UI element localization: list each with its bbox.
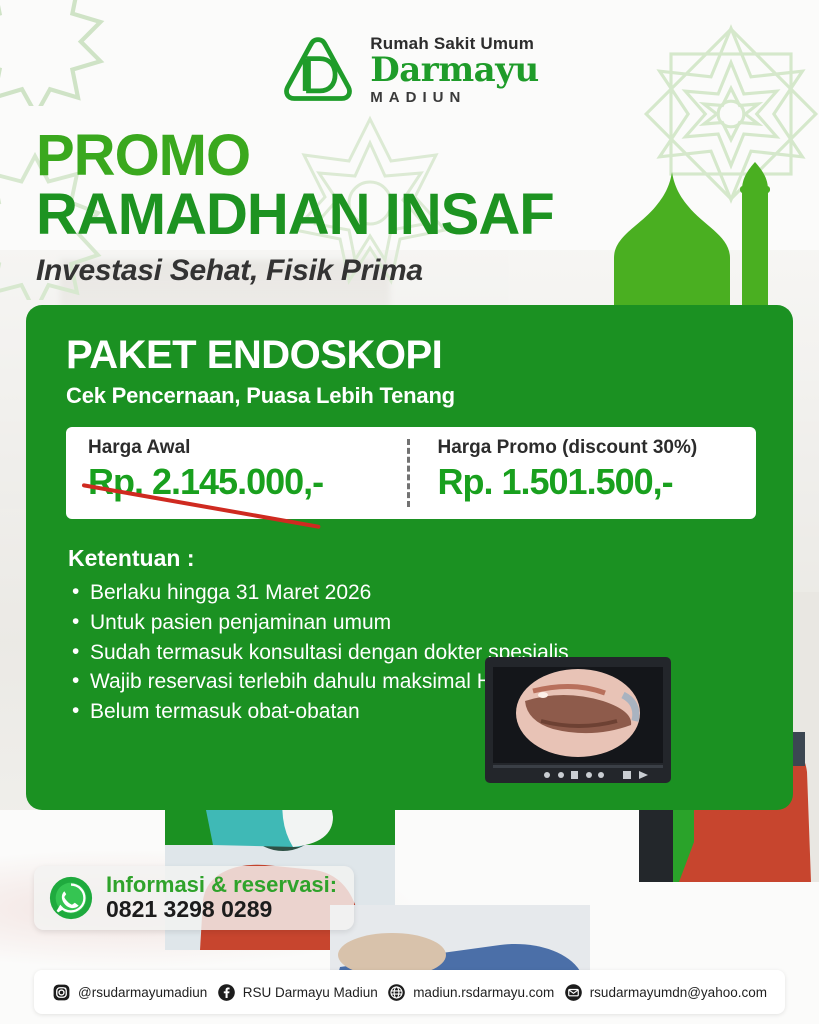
darmayu-triangle-d-logo-icon — [280, 32, 356, 108]
price-box: Harga Awal Rp. 2.145.000,- Harga Promo (… — [66, 427, 756, 519]
footer-item-facebook[interactable]: RSU Darmayu Madiun — [217, 983, 378, 1002]
footer-item-instagram[interactable]: @rsudarmayumadiun — [52, 983, 207, 1002]
promo-price-value: Rp. 1.501.500,- — [438, 461, 673, 503]
brand-line-3: MADIUN — [370, 90, 538, 105]
footer-text: RSU Darmayu Madiun — [243, 985, 378, 1000]
promo-card: PAKET ENDOSKOPI Cek Pencernaan, Puasa Le… — [26, 305, 793, 810]
footer-bar: @rsudarmayumadiun RSU Darmayu Madiun mad… — [34, 970, 785, 1014]
footer-item-website[interactable]: madiun.rsdarmayu.com — [387, 983, 554, 1002]
original-price-label: Harga Awal — [88, 437, 407, 459]
brand-line-2: Darmayu — [370, 53, 538, 87]
footer-text: rsudarmayumdn@yahoo.com — [590, 985, 767, 1000]
instagram-icon — [52, 983, 71, 1002]
facebook-icon — [217, 983, 236, 1002]
headline-block: PROMO RAMADHAN INSAF Investasi Sehat, Fi… — [36, 128, 554, 288]
promo-price-column: Harga Promo (discount 30%) Rp. 1.501.500… — [410, 427, 757, 519]
terms-title: Ketentuan : — [68, 545, 569, 572]
endoscopy-monitor-photo — [483, 655, 673, 785]
headline-tagline: Investasi Sehat, Fisik Prima — [36, 254, 554, 288]
email-icon — [564, 983, 583, 1002]
brand-logo: Rumah Sakit Umum Darmayu MADIUN — [0, 32, 819, 108]
footer-text: madiun.rsdarmayu.com — [413, 985, 554, 1000]
globe-icon — [387, 983, 406, 1002]
terms-item: Berlaku hingga 31 Maret 2026 — [68, 578, 569, 608]
package-title: PAKET ENDOSKOPI — [66, 333, 442, 378]
contact-bar[interactable]: Informasi & reservasi: 0821 3298 0289 — [34, 866, 354, 930]
package-subtitle: Cek Pencernaan, Puasa Lebih Tenang — [66, 383, 455, 409]
whatsapp-icon — [48, 875, 94, 921]
promo-poster: Rumah Sakit Umum Darmayu MADIUN PROMO RA… — [0, 0, 819, 1024]
footer-item-email[interactable]: rsudarmayumdn@yahoo.com — [564, 983, 767, 1002]
contact-label: Informasi & reservasi: — [106, 873, 337, 898]
contact-phone: 0821 3298 0289 — [106, 897, 337, 923]
headline-line-2: RAMADHAN INSAF — [36, 186, 554, 244]
headline-line-1: PROMO — [36, 128, 554, 184]
promo-price-label: Harga Promo (discount 30%) — [438, 437, 757, 459]
original-price-value: Rp. 2.145.000,- — [88, 461, 323, 503]
footer-text: @rsudarmayumadiun — [78, 985, 207, 1000]
terms-item: Untuk pasien penjaminan umum — [68, 608, 569, 638]
original-price-text: Rp. 2.145.000,- — [88, 461, 323, 502]
original-price-column: Harga Awal Rp. 2.145.000,- — [66, 427, 407, 519]
